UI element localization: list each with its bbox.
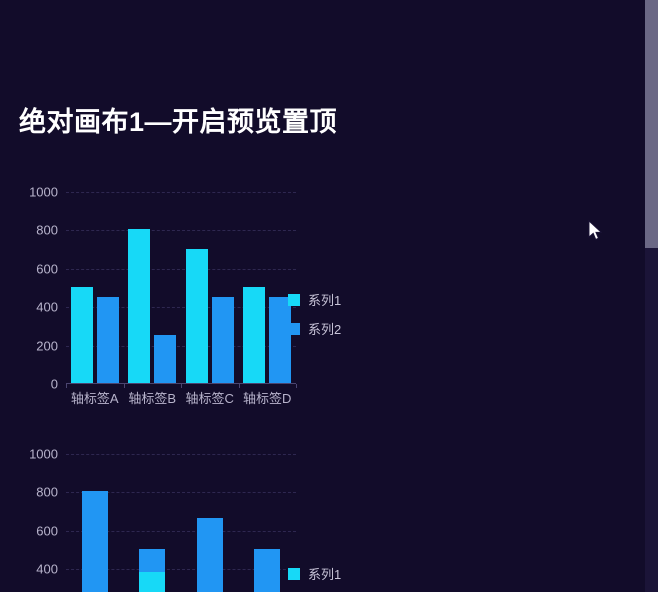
bar[interactable]: [97, 297, 119, 383]
y-tick-label: 600: [36, 523, 58, 538]
bar[interactable]: [139, 549, 165, 592]
bar-segment[interactable]: [139, 572, 165, 592]
legend-swatch-icon: [288, 294, 300, 306]
y-tick-label: 200: [36, 338, 58, 353]
bar[interactable]: [243, 287, 265, 383]
legend-item[interactable]: 系列1: [288, 290, 341, 309]
y-tick-label: 600: [36, 261, 58, 276]
x-tick-label: 轴标签B: [128, 388, 176, 407]
bar[interactable]: [128, 229, 150, 383]
bar[interactable]: [212, 297, 234, 383]
bar-segment[interactable]: [197, 518, 223, 592]
y-tick-label: 400: [36, 300, 58, 315]
page-title: 绝对画布1—开启预览置顶: [19, 100, 337, 139]
x-tick-label: 轴标签A: [71, 388, 119, 407]
bar[interactable]: [197, 518, 223, 592]
y-tick-label: 0: [51, 377, 58, 392]
y-tick-label: 800: [36, 223, 58, 238]
bar-segment[interactable]: [254, 549, 280, 592]
gridline: [66, 192, 296, 193]
bar[interactable]: [71, 287, 93, 383]
chart-1-legend: 系列1系列2: [288, 290, 341, 348]
legend-label: 系列1: [308, 290, 341, 309]
x-tick-label: 轴标签C: [186, 388, 234, 407]
x-tick-label: 轴标签D: [243, 388, 291, 407]
bar[interactable]: [82, 491, 108, 592]
legend-label: 系列1: [308, 564, 341, 583]
chart-1-plot-area: [66, 192, 296, 384]
y-tick-label: 1000: [29, 447, 58, 462]
legend-item[interactable]: 系列1: [288, 564, 341, 583]
gridline: [66, 454, 296, 455]
chart-1-x-axis: 轴标签A轴标签B轴标签C轴标签D: [66, 388, 296, 408]
gridline: [66, 230, 296, 231]
vertical-scrollbar-thumb[interactable]: [645, 0, 658, 248]
chart-2-plot-area: [66, 454, 296, 592]
chart-2-legend: 系列1系列2: [288, 564, 341, 592]
y-tick-label: 800: [36, 485, 58, 500]
y-tick-label: 1000: [29, 185, 58, 200]
y-tick-label: 400: [36, 562, 58, 577]
bar-segment[interactable]: [82, 491, 108, 592]
gridline: [66, 269, 296, 270]
legend-item[interactable]: 系列2: [288, 319, 341, 338]
chart-2-y-axis: 02004006008001000: [16, 454, 62, 592]
vertical-scrollbar-track[interactable]: [645, 0, 658, 592]
mouse-pointer-cursor: [588, 220, 604, 242]
chart-1-container: 02004006008001000 轴标签A轴标签B轴标签C轴标签D 系列1系列…: [16, 192, 376, 412]
chart-2-canvas: 02004006008001000 轴标签A轴标签B轴标签C轴标签D: [16, 454, 316, 592]
legend-label: 系列2: [308, 319, 341, 338]
bar-segment[interactable]: [139, 549, 165, 572]
x-tick-mark: [296, 384, 297, 388]
legend-swatch-icon: [288, 568, 300, 580]
bar[interactable]: [254, 549, 280, 592]
legend-swatch-icon: [288, 323, 300, 335]
chart-1-canvas: 02004006008001000 轴标签A轴标签B轴标签C轴标签D: [16, 192, 316, 412]
app-root: 绝对画布1—开启预览置顶 02004006008001000 轴标签A轴标签B轴…: [0, 0, 658, 592]
chart-2-container: 02004006008001000 轴标签A轴标签B轴标签C轴标签D 系列1系列…: [16, 454, 376, 592]
bar[interactable]: [186, 249, 208, 383]
bar[interactable]: [154, 335, 176, 383]
chart-1-y-axis: 02004006008001000: [16, 192, 62, 384]
